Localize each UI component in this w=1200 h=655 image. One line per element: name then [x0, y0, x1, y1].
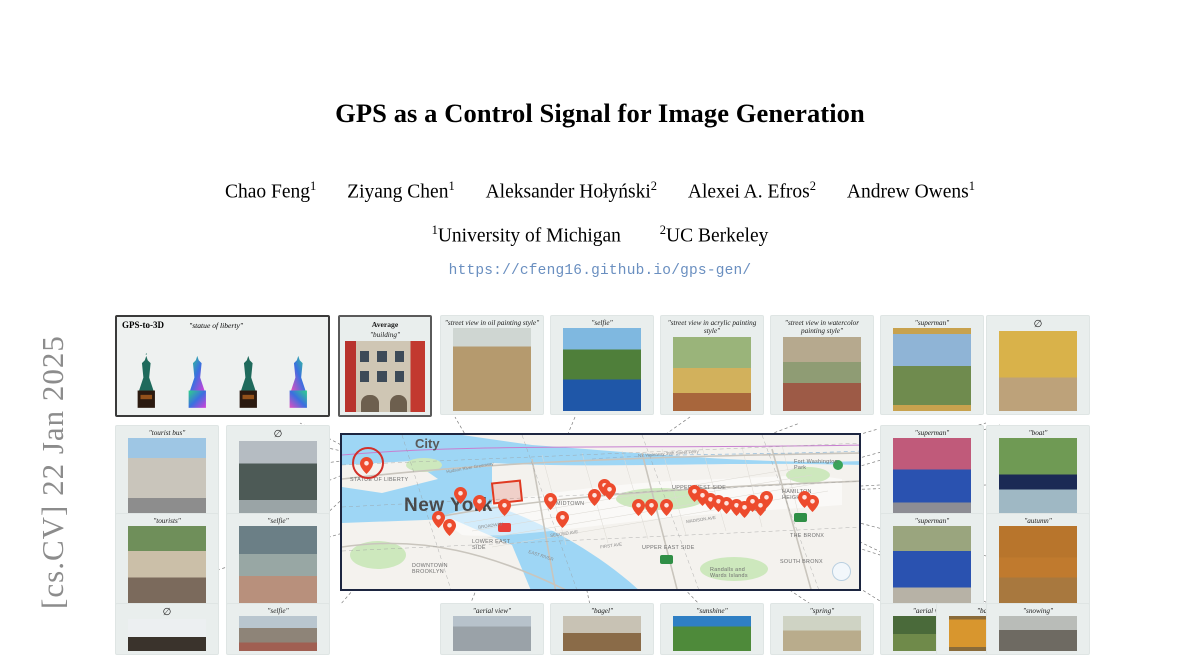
paper-header: GPS as a Control Signal for Image Genera… — [90, 0, 1110, 279]
author-affil-marker: 2 — [810, 179, 816, 193]
map-pin-0[interactable] — [360, 457, 373, 474]
thumbnail-caption: "spring" — [771, 606, 873, 616]
thumbnail-card[interactable]: ∅ — [115, 603, 219, 655]
thumbnail-image-tourist-bus — [128, 438, 206, 521]
author-name: Aleksander Hołyński — [486, 182, 651, 203]
thumbnail-image-tourists-arch — [128, 526, 206, 609]
map-panel[interactable]: City New York STATUE OF LIBERTY MIDTOWN … — [340, 433, 861, 591]
thumbnail-caption: "sunshine" — [661, 606, 763, 616]
thumbnail-card[interactable]: "street view in watercolor painting styl… — [770, 315, 874, 415]
gps-to-3d-heading: GPS-to-3D — [122, 320, 164, 330]
thumbnail-card[interactable]: "superman" — [880, 425, 984, 525]
thumbnail-image-street-oil — [453, 328, 531, 411]
thumbnail-caption: "street view in watercolor painting styl… — [771, 318, 873, 337]
map-label-city: City — [415, 436, 440, 451]
thumbnail-image-grand-central — [999, 331, 1077, 411]
gps-to-3d-caption: "statue of liberty" — [189, 321, 243, 330]
thumbnail-caption: "superman" — [881, 516, 983, 526]
thumbnail-card[interactable]: "tourists" — [115, 513, 219, 613]
author-list: Chao Feng1 Ziyang Chen1 Aleksander Hołyń… — [90, 179, 1110, 204]
thumbnail-card[interactable]: "selfie" — [226, 513, 330, 613]
thumbnail-caption: "selfie" — [227, 516, 329, 526]
map-pin-11[interactable] — [632, 499, 645, 516]
thumbnail-card[interactable]: "street view in oil painting style" — [440, 315, 544, 415]
author-0: Chao Feng1 — [225, 179, 316, 204]
map-pin-5[interactable] — [498, 499, 511, 516]
thumbnail-caption: "street view in acrylic painting style" — [661, 318, 763, 337]
thumbnail-caption: "autumn" — [987, 516, 1089, 526]
thumbnail-image-oculus — [128, 619, 206, 651]
map-pin-2[interactable] — [473, 495, 486, 512]
map-pin-13[interactable] — [660, 499, 673, 516]
thumbnail-image-sunshine-trees — [673, 616, 751, 651]
thumbnail-image-boat — [999, 438, 1077, 521]
map-area-downtown-brooklyn: DOWNTOWN BROOKLYN — [412, 563, 456, 575]
thumbnail-image-memorial-pool — [239, 441, 317, 521]
thumbnail-image — [345, 341, 424, 412]
author-2: Aleksander Hołyński2 — [486, 179, 657, 204]
map-pin-25[interactable] — [806, 495, 819, 512]
map-area-statue-of-liberty: STATUE OF LIBERTY — [350, 477, 408, 483]
thumbnail-card[interactable]: "snowing" — [986, 603, 1090, 655]
map-pin-4[interactable] — [443, 519, 456, 536]
map-area-midtown: MIDTOWN — [556, 501, 584, 507]
map-area-upper-east-side: UPPER EAST SIDE — [642, 545, 695, 551]
author-name: Chao Feng — [225, 182, 310, 203]
thumbnail-caption: "boat" — [987, 428, 1089, 438]
thumbnail-image-selfie-skyline — [239, 616, 317, 651]
no-text-prompt-icon: ∅ — [987, 318, 1089, 331]
thumbnail-image-selfie-man — [563, 328, 641, 411]
compass-icon[interactable] — [832, 562, 851, 581]
author-4: Andrew Owens1 — [847, 179, 975, 204]
thumbnail-card[interactable]: "autumn" — [986, 513, 1090, 613]
thumbnail-card[interactable]: "superman" — [880, 513, 984, 613]
author-affil-marker: 1 — [969, 179, 975, 193]
liberty-render-normals-2 — [279, 353, 318, 411]
thumbnail-caption: "bagel" — [551, 606, 653, 616]
thumbnail-card[interactable]: ∅ — [986, 315, 1090, 415]
map-pin-23[interactable] — [760, 491, 773, 508]
author-name: Andrew Owens — [847, 182, 969, 203]
thumbnail-image-spring-trees — [783, 616, 861, 651]
thumbnail-caption: "tourists" — [116, 516, 218, 526]
author-1: Ziyang Chen1 — [347, 179, 455, 204]
no-text-prompt-icon: ∅ — [116, 606, 218, 619]
map-pin-7[interactable] — [556, 511, 569, 528]
average-caption: "building" — [340, 330, 430, 340]
project-page-link[interactable]: https://cfeng16.github.io/gps-gen/ — [90, 263, 1110, 279]
thumbnail-image-selfie-pair — [239, 526, 317, 609]
liberty-render-normals — [178, 353, 217, 411]
thumbnail-caption: "superman" — [881, 318, 983, 328]
thumbnail-caption: "selfie" — [551, 318, 653, 328]
thumbnail-card[interactable]: "selfie" — [226, 603, 330, 655]
author-affil-marker: 1 — [448, 179, 454, 193]
thumbnail-card[interactable]: "aerial view" — [440, 603, 544, 655]
thumbnail-card[interactable]: "sunshine" — [660, 603, 764, 655]
map-pin-6[interactable] — [544, 493, 557, 510]
thumbnail-image-superman-times-square — [893, 438, 971, 521]
thumbnail-card[interactable]: ∅ — [226, 425, 330, 525]
affiliation-name: UC Berkeley — [666, 225, 768, 246]
thumbnail-caption: "superman" — [881, 428, 983, 438]
thumbnail-caption: "tourist bus" — [116, 428, 218, 438]
gps-to-3d-renders — [121, 333, 324, 411]
map-area-lower-east-side: LOWER EAST SIDE — [472, 539, 512, 551]
thumbnail-image-autumn — [999, 526, 1077, 609]
thumbnail-caption: "snowing" — [987, 606, 1089, 616]
map-area-randalls-wards: Randalls and Wards Islands — [710, 567, 752, 579]
map-pin-1[interactable] — [454, 487, 467, 504]
map-pin-12[interactable] — [645, 499, 658, 516]
map-area-south-bronx: SOUTH BRONX — [780, 559, 823, 565]
author-name: Ziyang Chen — [347, 182, 448, 203]
thumbnail-card[interactable]: "tourist bus" — [115, 425, 219, 525]
thumbnail-card[interactable]: "superman" — [880, 315, 984, 415]
average-building-card[interactable]: Average "building" — [338, 315, 432, 417]
thumbnail-caption: "selfie" — [227, 606, 329, 616]
thumbnail-image-aerial-city — [453, 616, 531, 651]
author-3: Alexei A. Efros2 — [688, 179, 816, 204]
affiliation-list: 1University of Michigan 2UC Berkeley — [90, 223, 1110, 248]
thumbnail-image-superman-museum — [893, 526, 971, 609]
thumbnail-card[interactable]: "street view in acrylic painting style" — [660, 315, 764, 415]
gps-to-3d-panel[interactable]: GPS-to-3D "statue of liberty" — [115, 315, 330, 417]
thumbnail-image-street-watercolor — [783, 337, 861, 411]
thumbnail-image-snowing — [999, 616, 1077, 651]
thumbnail-card[interactable]: "bagel" — [550, 603, 654, 655]
thumbnail-image-bagel-shop — [563, 616, 641, 651]
liberty-render-rgb-2 — [229, 353, 268, 411]
thumbnail-card[interactable]: "spring" — [770, 603, 874, 655]
average-heading: Average — [340, 319, 430, 330]
author-name: Alexei A. Efros — [688, 182, 810, 203]
thumbnail-caption: "street view in oil painting style" — [441, 318, 543, 328]
thumbnail-caption: "aerial view" — [441, 606, 543, 616]
thumbnail-image-superman-painting — [893, 328, 971, 411]
thumbnail-image-street-acrylic — [673, 337, 751, 411]
no-text-prompt-icon: ∅ — [227, 428, 329, 441]
affiliation-1: 2UC Berkeley — [660, 223, 769, 248]
author-affil-marker: 2 — [651, 179, 657, 193]
affiliation-0: 1University of Michigan — [432, 223, 621, 248]
affiliation-name: University of Michigan — [438, 225, 621, 246]
map-area-the-bronx: THE BRONX — [790, 533, 824, 539]
map-pin-10[interactable] — [603, 483, 616, 500]
teaser-figure: GPS-to-3D "statue of liberty" — [0, 305, 1200, 648]
author-affil-marker: 1 — [310, 179, 316, 193]
thumbnail-card[interactable]: "selfie" — [550, 315, 654, 415]
map-area-fort-washington-park: Fort Washington Park — [794, 459, 838, 471]
thumbnail-card[interactable]: "boat" — [986, 425, 1090, 525]
page-title: GPS as a Control Signal for Image Genera… — [90, 98, 1110, 129]
liberty-render-rgb — [127, 353, 166, 411]
